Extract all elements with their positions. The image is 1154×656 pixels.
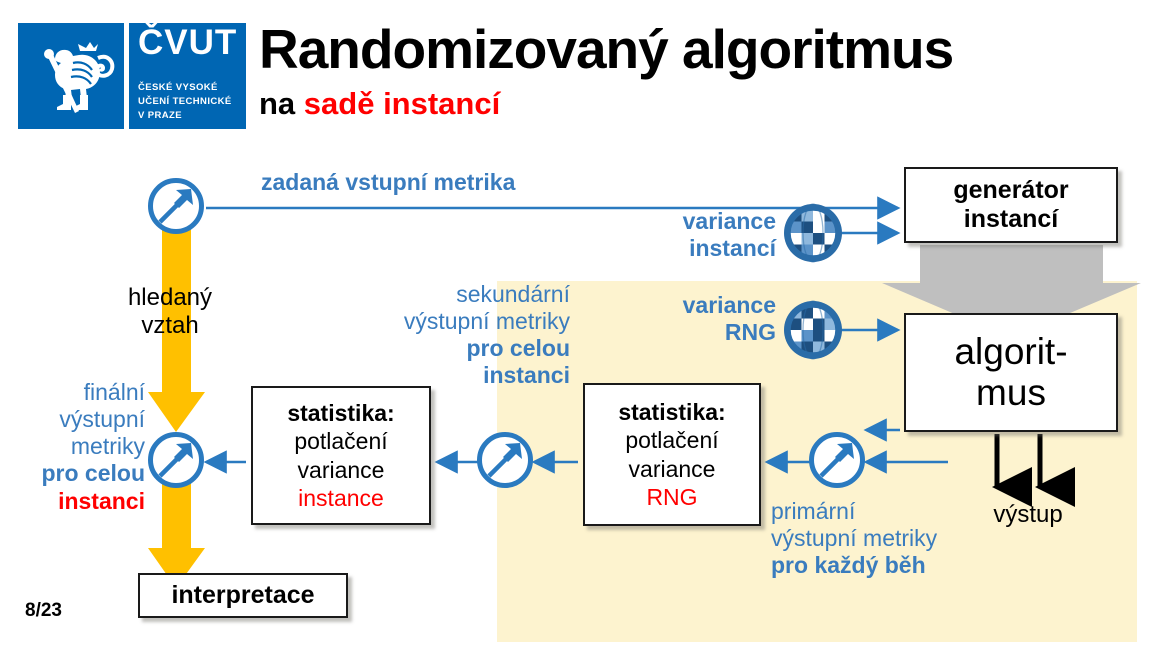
- label-primarni-vystupni-metriky: primární výstupní metriky pro každý běh: [771, 498, 937, 579]
- interpretace-label: interpretace: [171, 581, 314, 610]
- random-sphere-icon-rng: [782, 299, 844, 366]
- stat-instance-line3: variance: [298, 456, 385, 484]
- finalni-line4: pro celou: [20, 460, 145, 487]
- box-algoritmus[interactable]: algorit- mus: [904, 313, 1118, 432]
- label-sekundarni-vystupni-metriky: sekundární výstupní metriky pro celou in…: [330, 281, 570, 390]
- subtitle-highlight: sadě instancí: [304, 86, 500, 121]
- generator-line2: instancí: [964, 205, 1058, 234]
- sekundarni-line3: pro celou: [330, 335, 570, 362]
- gauge-icon-top: [147, 177, 205, 240]
- cvut-wordmark: ČVUT ČESKÉ VYSOKÉ UČENÍ TECHNICKÉ V PRAZ…: [129, 23, 246, 129]
- label-zadana-vstupni-metrika: zadaná vstupní metrika: [261, 169, 515, 196]
- box-statistika-instance[interactable]: statistika: potlačení variance instance: [251, 386, 431, 525]
- cvut-logo: ČVUT ČESKÉ VYSOKÉ UČENÍ TECHNICKÉ V PRAZ…: [18, 23, 246, 129]
- label-vystup: výstup: [983, 501, 1073, 529]
- stat-rng-line4: RNG: [646, 483, 697, 511]
- subtitle-plain: na: [259, 86, 304, 121]
- gauge-icon-primary-metrics: [808, 431, 866, 494]
- box-generator-instanci[interactable]: generátor instancí: [904, 167, 1118, 243]
- stat-instance-line2: potlačení: [294, 427, 387, 455]
- variance-instanci-line1: variance: [648, 208, 776, 235]
- stat-rng-line3: variance: [629, 455, 716, 483]
- label-variance-rng: variance RNG: [648, 292, 776, 346]
- primarni-line1: primární: [771, 498, 937, 525]
- generator-line1: generátor: [953, 176, 1068, 205]
- slide-title: Randomizovaný algoritmus: [259, 22, 953, 77]
- cvut-fullname-line3: V PRAZE: [138, 109, 232, 123]
- hledany-line1: hledaný: [110, 284, 230, 312]
- gauge-icon-secondary-metrics: [476, 431, 534, 494]
- label-hledany-vztah: hledaný vztah: [110, 284, 230, 341]
- variance-rng-line2: RNG: [648, 319, 776, 346]
- label-finalni-vystupni-metriky: finální výstupní metriky pro celou insta…: [20, 379, 145, 515]
- cvut-fullname-line2: UČENÍ TECHNICKÉ: [138, 95, 232, 109]
- finalni-line2: výstupní: [20, 406, 145, 433]
- cvut-lion-emblem-icon: [18, 23, 124, 129]
- finalni-line1: finální: [20, 379, 145, 406]
- primarni-line2: výstupní metriky: [771, 525, 937, 552]
- label-variance-instanci: variance instancí: [648, 208, 776, 262]
- sekundarni-line4: instanci: [330, 362, 570, 389]
- hledany-line2: vztah: [110, 312, 230, 340]
- cvut-fullname-text: ČESKÉ VYSOKÉ UČENÍ TECHNICKÉ V PRAZE: [138, 81, 232, 122]
- sekundarni-line2: výstupní metriky: [330, 308, 570, 335]
- algoritmus-line1: algorit-: [954, 332, 1067, 373]
- random-sphere-icon-instances: [782, 202, 844, 269]
- cvut-abbr-text: ČVUT: [138, 25, 237, 62]
- stat-rng-line1: statistika:: [618, 398, 725, 426]
- box-statistika-rng[interactable]: statistika: potlačení variance RNG: [583, 383, 761, 526]
- cvut-fullname-line1: ČESKÉ VYSOKÉ: [138, 81, 232, 95]
- sekundarni-line1: sekundární: [330, 281, 570, 308]
- slide-root: ČVUT ČESKÉ VYSOKÉ UČENÍ TECHNICKÉ V PRAZ…: [0, 0, 1154, 656]
- box-interpretace[interactable]: interpretace: [138, 573, 348, 618]
- algoritmus-line2: mus: [976, 373, 1046, 414]
- primarni-line3: pro každý běh: [771, 552, 937, 579]
- finalni-line3: metriky: [20, 433, 145, 460]
- page-number: 8/23: [25, 600, 62, 622]
- stat-instance-line4: instance: [298, 484, 384, 512]
- stat-instance-line1: statistika:: [287, 399, 394, 427]
- slide-subtitle: na sadě instancí: [259, 88, 500, 119]
- variance-rng-line1: variance: [648, 292, 776, 319]
- variance-instanci-line2: instancí: [648, 235, 776, 262]
- gauge-icon-final-metrics: [147, 431, 205, 494]
- finalni-line5: instanci: [20, 488, 145, 515]
- stat-rng-line2: potlačení: [625, 426, 718, 454]
